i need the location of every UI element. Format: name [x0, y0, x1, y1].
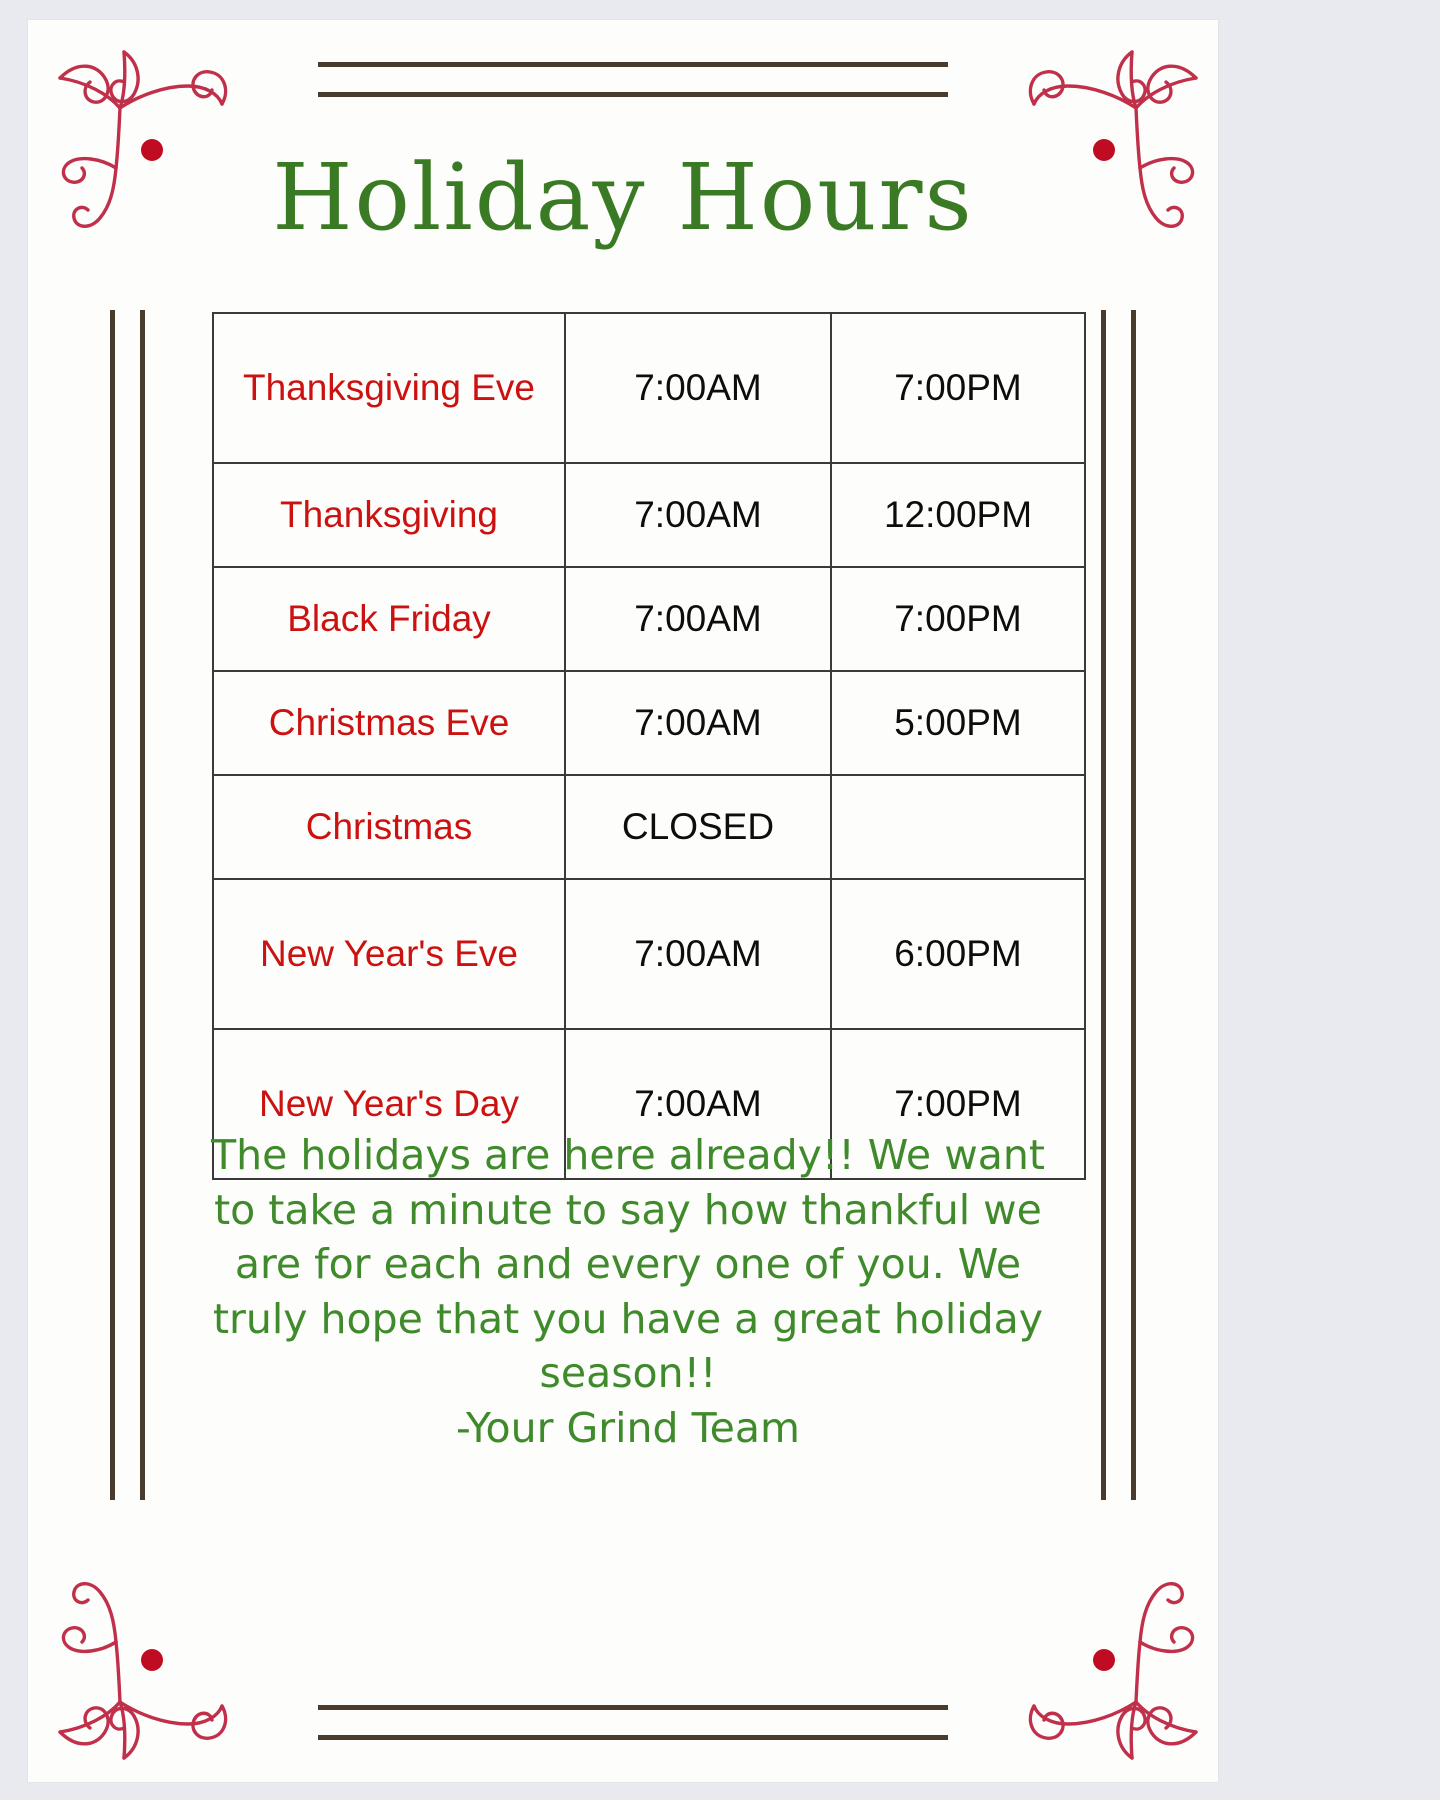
page-title: Holiday Hours [28, 152, 1218, 244]
right-rule-outer [1131, 310, 1136, 1500]
close-time: 7:00PM [831, 567, 1085, 671]
open-time: 7:00AM [565, 567, 831, 671]
close-time: 5:00PM [831, 671, 1085, 775]
table-row: Thanksgiving Eve 7:00AM 7:00PM [213, 313, 1085, 463]
flourish-bottom-right-icon [1010, 1577, 1210, 1772]
top-rule-upper [318, 62, 948, 67]
right-rule-inner [1101, 310, 1106, 1500]
close-time [831, 775, 1085, 879]
open-time: 7:00AM [565, 313, 831, 463]
message-signature: -Your Grind Team [208, 1401, 1048, 1456]
left-rule-outer [110, 310, 115, 1500]
top-rule-lower [318, 92, 948, 97]
holiday-message: The holidays are here already!! We want … [208, 1128, 1048, 1455]
day-label: New Year's Eve [213, 879, 565, 1029]
left-rule-inner [140, 310, 145, 1500]
close-time: 12:00PM [831, 463, 1085, 567]
message-body: The holidays are here already!! We want … [211, 1131, 1045, 1397]
flourish-bottom-left-icon [46, 1577, 246, 1772]
open-time: 7:00AM [565, 879, 831, 1029]
day-label: Christmas [213, 775, 565, 879]
day-label: Christmas Eve [213, 671, 565, 775]
open-time: 7:00AM [565, 671, 831, 775]
close-time: 7:00PM [831, 313, 1085, 463]
table-row: Black Friday 7:00AM 7:00PM [213, 567, 1085, 671]
table-row: Christmas Eve 7:00AM 5:00PM [213, 671, 1085, 775]
flyer-sheet: Holiday Hours Thanksgiving Eve 7:00AM 7:… [28, 20, 1218, 1782]
table-row: Thanksgiving 7:00AM 12:00PM [213, 463, 1085, 567]
day-label: Thanksgiving Eve [213, 313, 565, 463]
close-time: 6:00PM [831, 879, 1085, 1029]
table-row: Christmas CLOSED [213, 775, 1085, 879]
bottom-rule-upper [318, 1705, 948, 1710]
open-time: 7:00AM [565, 463, 831, 567]
open-time: CLOSED [565, 775, 831, 879]
day-label: Thanksgiving [213, 463, 565, 567]
day-label: Black Friday [213, 567, 565, 671]
holiday-hours-table: Thanksgiving Eve 7:00AM 7:00PM Thanksgiv… [212, 312, 1086, 1180]
flyer-page: Holiday Hours Thanksgiving Eve 7:00AM 7:… [0, 0, 1440, 1800]
table-row: New Year's Eve 7:00AM 6:00PM [213, 879, 1085, 1029]
bottom-rule-lower [318, 1735, 948, 1740]
